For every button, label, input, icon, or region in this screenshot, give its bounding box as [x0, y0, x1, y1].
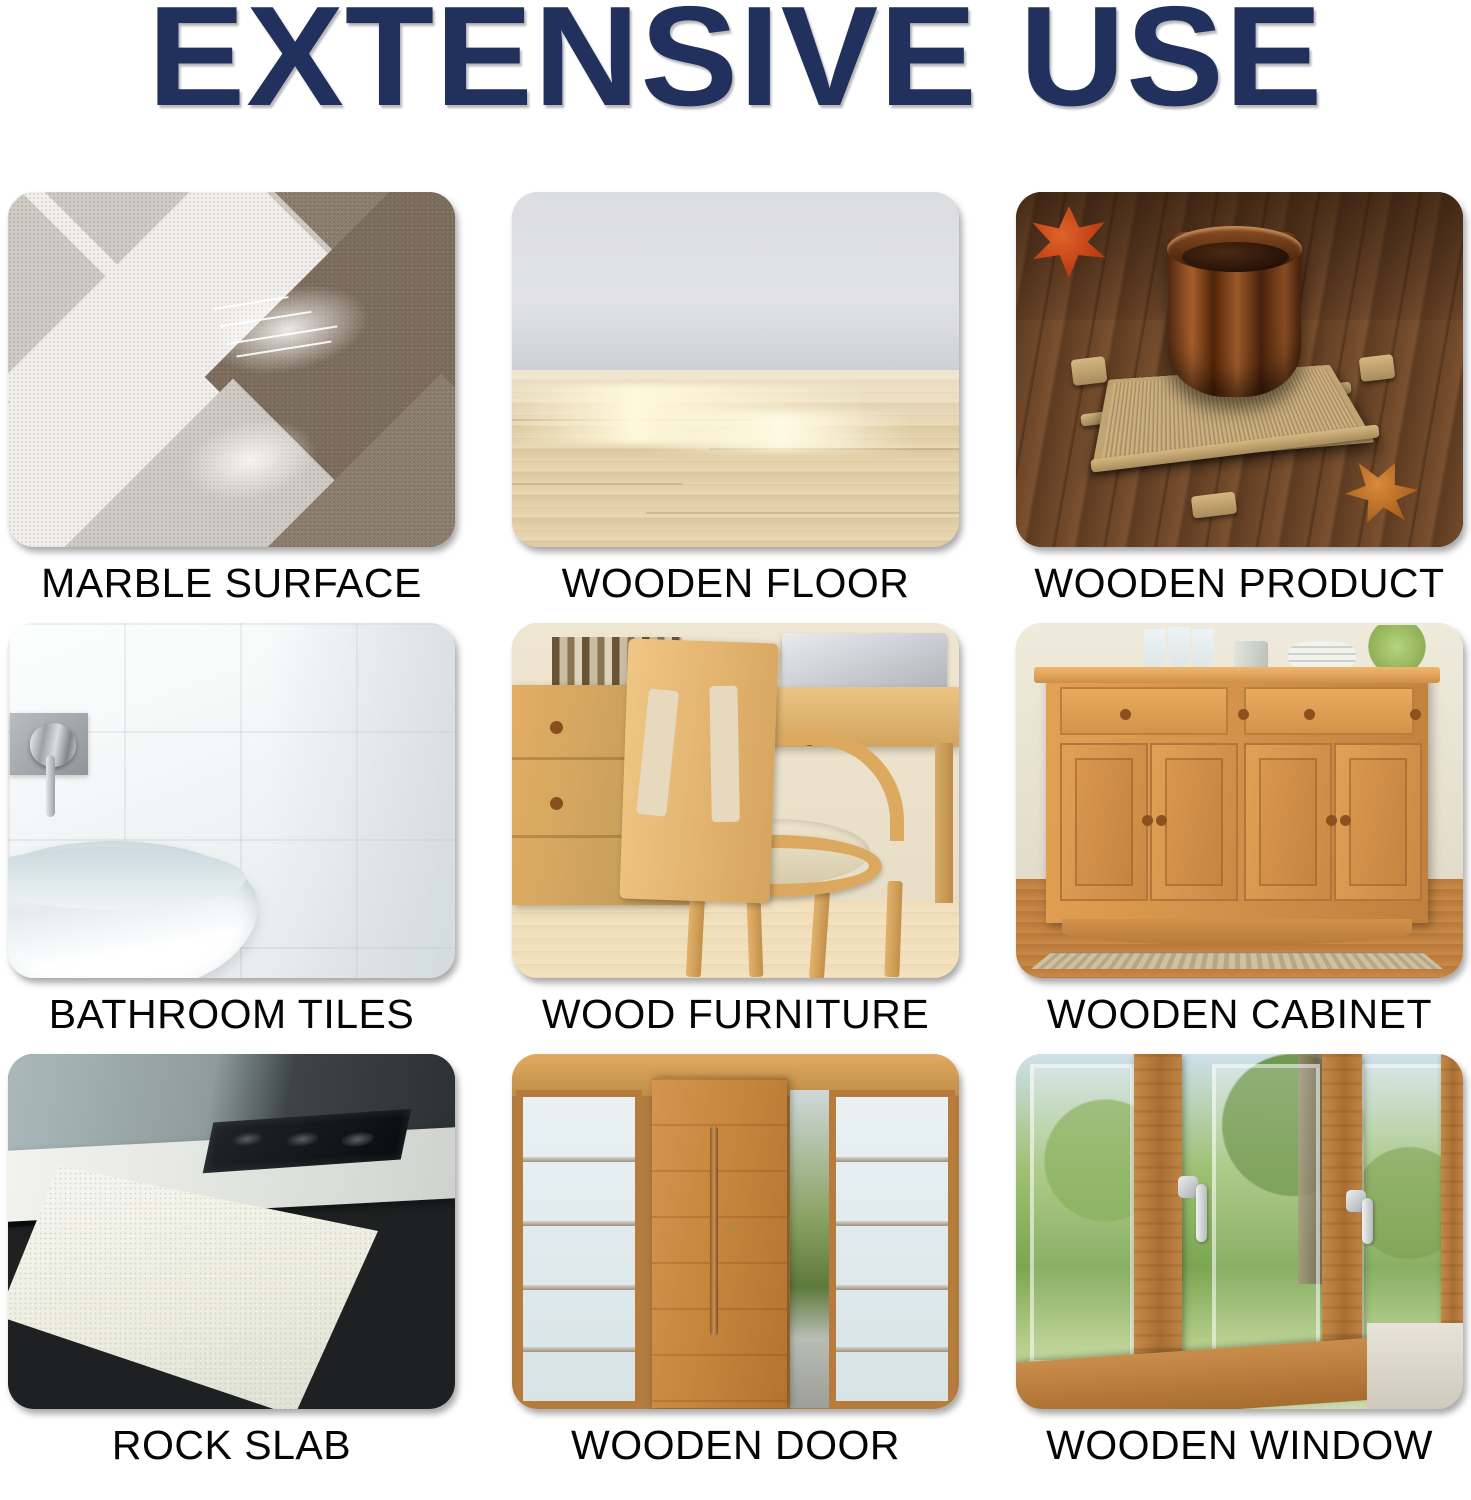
- door-lock-icon: [725, 1224, 736, 1235]
- caption-bathroom-tiles: BATHROOM TILES: [8, 992, 455, 1036]
- basin-shape: [8, 841, 258, 978]
- grid-cell-wooden-product: WOODEN PRODUCT: [1016, 192, 1463, 605]
- caption-wooden-floor: WOODEN FLOOR: [512, 561, 959, 605]
- grid-cell-wood-furniture: WOOD FURNITURE: [512, 623, 959, 1036]
- image-card-wooden-floor[interactable]: [512, 192, 959, 547]
- wood-furniture-illustration: [512, 623, 959, 978]
- rock-slab-illustration: [8, 1054, 455, 1409]
- bathroom-tiles-illustration: [8, 623, 455, 978]
- grid-cell-wooden-cabinet: WOODEN CABINET: [1016, 623, 1463, 1036]
- faucet-lever-icon: [46, 755, 55, 817]
- caption-wooden-window: WOODEN WINDOW: [1016, 1423, 1463, 1467]
- image-card-wooden-product[interactable]: [1016, 192, 1463, 547]
- caption-wooden-door: WOODEN DOOR: [512, 1423, 959, 1467]
- grid-cell-wooden-floor: WOODEN FLOOR: [512, 192, 959, 605]
- window-handle-icon-right: [1362, 1198, 1373, 1244]
- image-card-wooden-door[interactable]: [512, 1054, 959, 1409]
- page-title: EXTENSIVE USE: [0, 0, 1471, 128]
- wooden-floor-illustration: [512, 192, 959, 547]
- image-card-wood-furniture[interactable]: [512, 623, 959, 978]
- use-case-grid: MARBLE SURFACE WOODE: [8, 192, 1463, 1467]
- infographic-page: EXTENSIVE USE: [0, 0, 1471, 1500]
- image-card-wooden-cabinet[interactable]: [1016, 623, 1463, 978]
- caption-wood-furniture: WOOD FURNITURE: [512, 992, 959, 1036]
- grid-cell-wooden-door: WOODEN DOOR: [512, 1054, 959, 1467]
- image-card-bathroom-tiles[interactable]: [8, 623, 455, 978]
- caption-wooden-cabinet: WOODEN CABINET: [1016, 992, 1463, 1036]
- marble-illustration: [8, 192, 455, 547]
- wooden-window-illustration: [1016, 1054, 1463, 1409]
- grid-cell-wooden-window: WOODEN WINDOW: [1016, 1054, 1463, 1467]
- wooden-cabinet-illustration: [1016, 623, 1463, 978]
- image-card-wooden-window[interactable]: [1016, 1054, 1463, 1409]
- caption-rock-slab: ROCK SLAB: [8, 1423, 455, 1467]
- caption-marble-surface: MARBLE SURFACE: [8, 561, 455, 605]
- grid-cell-bathroom-tiles: BATHROOM TILES: [8, 623, 455, 1036]
- image-card-marble-surface[interactable]: [8, 192, 455, 547]
- wooden-door-illustration: [512, 1054, 959, 1409]
- image-card-rock-slab[interactable]: [8, 1054, 455, 1409]
- grid-cell-rock-slab: ROCK SLAB: [8, 1054, 455, 1467]
- wooden-product-illustration: [1016, 192, 1463, 547]
- window-handle-base-left: [1178, 1176, 1198, 1198]
- door-handle-icon: [710, 1126, 718, 1336]
- grid-cell-marble-surface: MARBLE SURFACE: [8, 192, 455, 605]
- caption-wooden-product: WOODEN PRODUCT: [1016, 561, 1463, 605]
- window-handle-icon-left: [1196, 1184, 1207, 1242]
